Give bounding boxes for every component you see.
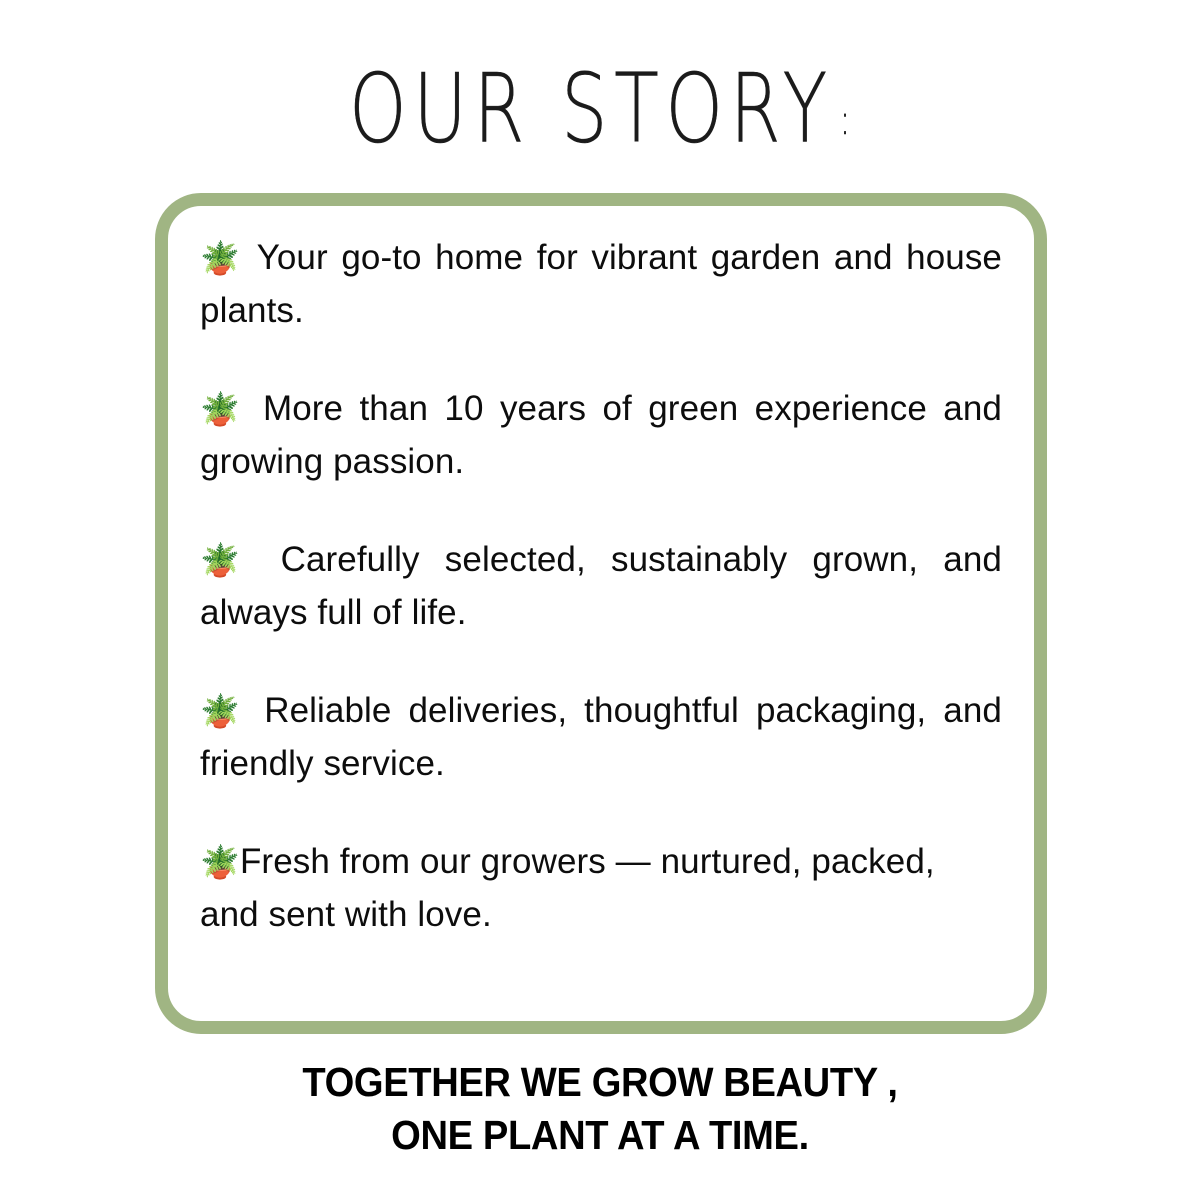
list-item-text: Your go-to home for vibrant garden and h… bbox=[200, 238, 1002, 330]
list-item: 🪴 Reliable deliveries, thoughtful packag… bbox=[200, 685, 1002, 790]
potted-plant-icon: 🪴 bbox=[200, 390, 247, 428]
potted-plant-icon: 🪴 bbox=[200, 541, 255, 579]
potted-plant-icon: 🪴 bbox=[200, 239, 244, 277]
page-title-colon: : bbox=[840, 96, 851, 145]
page-title-container: OUR STORY: bbox=[0, 62, 1200, 172]
list-item: 🪴Fresh from our growers — nurtured, pack… bbox=[200, 836, 1002, 941]
story-card: 🪴 Your go-to home for vibrant garden and… bbox=[155, 193, 1047, 1034]
list-item-text: Carefully selected, sustainably grown, a… bbox=[200, 540, 1002, 632]
tagline-line-1: TOGETHER WE GROW BEAUTY , bbox=[42, 1056, 1158, 1109]
potted-plant-icon: 🪴 bbox=[200, 692, 247, 730]
list-item-text: Reliable deliveries, thoughtful packagin… bbox=[200, 691, 1002, 783]
list-item-text: More than 10 years of green experience a… bbox=[200, 389, 1002, 481]
page-title: OUR STORY: bbox=[349, 62, 850, 157]
story-list: 🪴 Your go-to home for vibrant garden and… bbox=[200, 232, 1002, 941]
tagline-line-2: ONE PLANT AT A TIME. bbox=[42, 1109, 1158, 1162]
story-page: OUR STORY: 🪴 Your go-to home for vibrant… bbox=[0, 0, 1200, 1200]
list-item: 🪴 Your go-to home for vibrant garden and… bbox=[200, 232, 1002, 337]
tagline: TOGETHER WE GROW BEAUTY , ONE PLANT AT A… bbox=[42, 1056, 1158, 1163]
page-title-text: OUR STORY bbox=[349, 55, 834, 165]
list-item: 🪴 More than 10 years of green experience… bbox=[200, 383, 1002, 488]
list-item: 🪴 Carefully selected, sustainably grown,… bbox=[200, 534, 1002, 639]
list-item-text: Fresh from our growers — nurtured, packe… bbox=[200, 842, 935, 934]
potted-plant-icon: 🪴 bbox=[200, 843, 240, 881]
